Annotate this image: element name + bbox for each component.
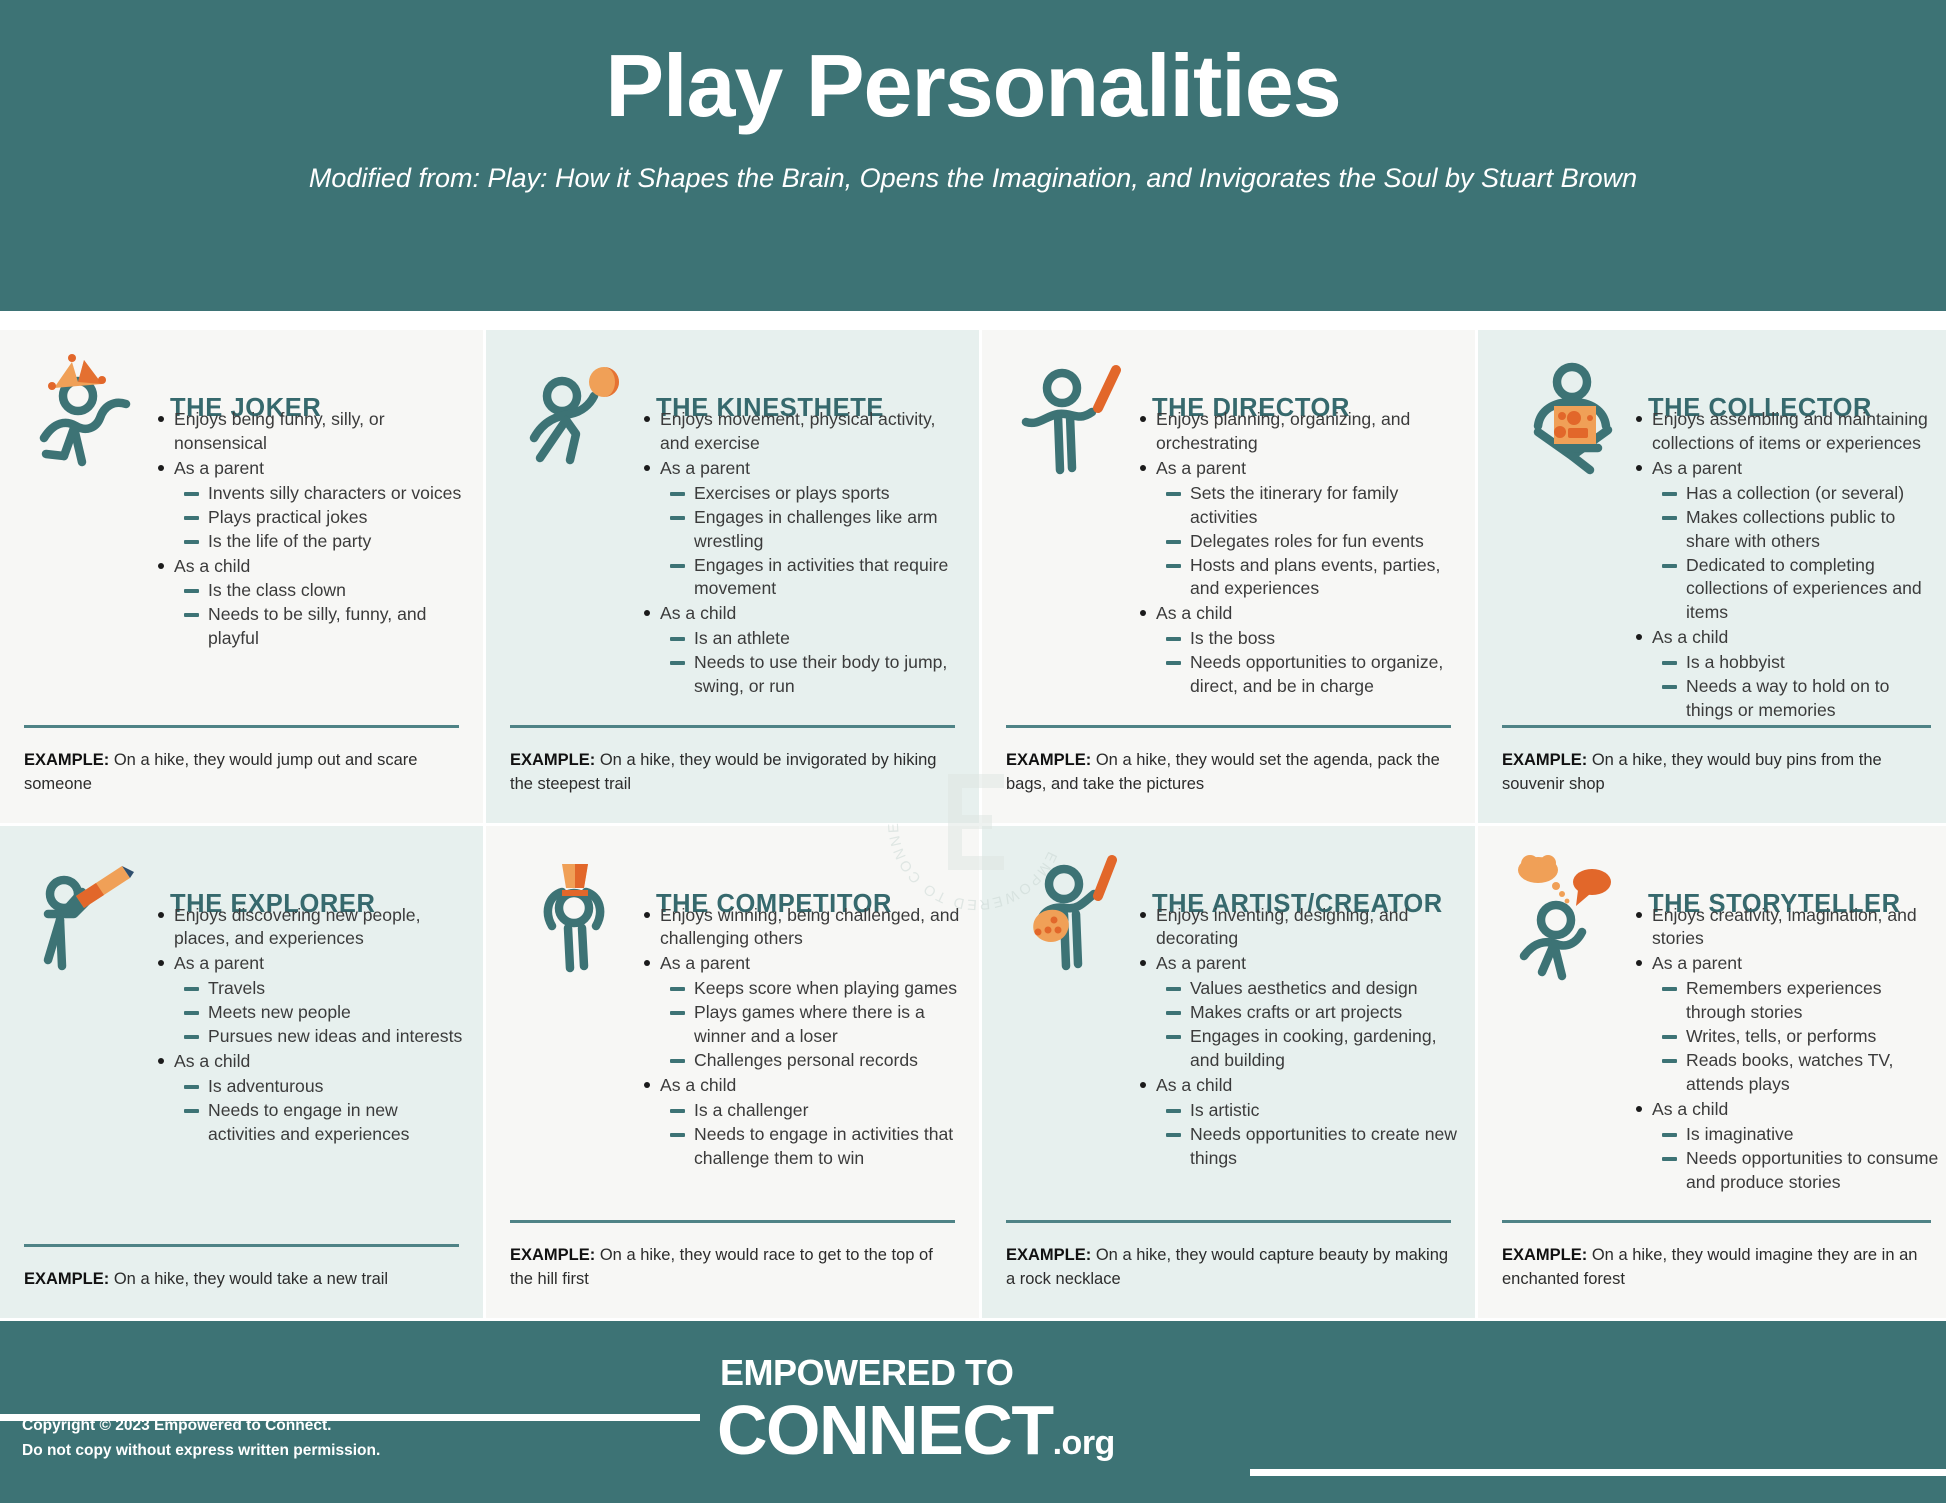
example-label: EXAMPLE:: [1502, 1246, 1587, 1264]
dash-marker-icon: [1166, 540, 1181, 544]
sub-bullet-text: Needs opportunities to create new things: [1190, 1124, 1457, 1168]
sub-bullet-item: Needs opportunities to consume and produ…: [1652, 1147, 1939, 1195]
card-bullet-list: Enjoys winning, being challenged, and ch…: [640, 904, 963, 1172]
sub-bullet-text: Needs a way to hold on to things or memo…: [1686, 676, 1889, 720]
sub-bullet-item: Is a hobbyist: [1652, 651, 1939, 675]
sub-bullet-text: Pursues new ideas and interests: [208, 1026, 462, 1046]
bullet-dot-icon: [644, 960, 650, 966]
bullet-dot-icon: [1636, 465, 1642, 471]
sub-bullet-text: Values aesthetics and design: [1190, 978, 1418, 998]
personality-card-the-director: THE DIRECTOREnjoys planning, organizing,…: [982, 330, 1475, 823]
sub-bullet-text: Is the boss: [1190, 628, 1275, 648]
bullet-text: As a child: [1652, 1099, 1728, 1119]
footer-rule-right: [1250, 1469, 1946, 1476]
example-divider: [510, 725, 955, 728]
sub-bullet-list: Keeps score when playing gamesPlays game…: [660, 977, 963, 1073]
bullet-dot-icon: [1140, 1082, 1146, 1088]
dash-marker-icon: [1662, 516, 1677, 520]
card-example: EXAMPLE: On a hike, they would race to g…: [510, 1220, 955, 1292]
sub-bullet-item: Has a collection (or several): [1652, 482, 1939, 506]
bullet-dot-icon: [1140, 610, 1146, 616]
page-footer: Copyright © 2023 Empowered to Connect. D…: [0, 1321, 1946, 1503]
sub-bullet-item: Values aesthetics and design: [1156, 977, 1459, 1001]
bullet-dot-icon: [158, 416, 164, 422]
example-divider: [24, 1244, 459, 1247]
sub-bullet-item: Is the boss: [1156, 627, 1459, 651]
example-text: EXAMPLE: On a hike, they would buy pins …: [1502, 749, 1931, 797]
sub-bullet-text: Writes, tells, or performs: [1686, 1026, 1876, 1046]
sub-bullet-item: Keeps score when playing games: [660, 977, 963, 1001]
example-text: EXAMPLE: On a hike, they would take a ne…: [24, 1268, 459, 1292]
example-text: EXAMPLE: On a hike, they would race to g…: [510, 1244, 955, 1292]
dash-marker-icon: [670, 516, 685, 520]
card-example: EXAMPLE: On a hike, they would capture b…: [1006, 1220, 1451, 1292]
dash-marker-icon: [184, 1035, 199, 1039]
dash-marker-icon: [1166, 987, 1181, 991]
example-divider: [1006, 1220, 1451, 1223]
bullet-item: As a parentSets the itinerary for family…: [1136, 457, 1459, 602]
dash-marker-icon: [1166, 661, 1181, 665]
sub-bullet-text: Engages in cooking, gardening, and build…: [1190, 1026, 1437, 1070]
sub-bullet-item: Challenges personal records: [660, 1049, 963, 1073]
sub-bullet-text: Travels: [208, 978, 265, 998]
page-subtitle: Modified from: Play: How it Shapes the B…: [309, 159, 1637, 198]
personality-card-the-joker: THE JOKEREnjoys being funny, silly, or n…: [0, 330, 483, 823]
sub-bullet-list: Values aesthetics and designMakes crafts…: [1156, 977, 1459, 1073]
bullet-dot-icon: [644, 610, 650, 616]
bullet-text: As a child: [1156, 603, 1232, 623]
dash-marker-icon: [1662, 1157, 1677, 1161]
bullet-item: Enjoys winning, being challenged, and ch…: [640, 904, 963, 952]
bullet-text: Enjoys planning, organizing, and orchest…: [1156, 409, 1410, 453]
empowered-to-connect-logo: EMPOWERED TO CONNECT.org: [717, 1355, 1257, 1466]
joker-figure-icon: [38, 352, 158, 484]
director-figure-icon: [1020, 352, 1140, 484]
sub-bullet-item: Is the life of the party: [174, 530, 467, 554]
sub-bullet-item: Plays games where there is a winner and …: [660, 1001, 963, 1049]
sub-bullet-text: Sets the itinerary for family activities: [1190, 483, 1398, 527]
dash-marker-icon: [184, 1109, 199, 1113]
dash-marker-icon: [670, 1133, 685, 1137]
dash-marker-icon: [670, 637, 685, 641]
example-divider: [24, 725, 459, 728]
bullet-text: Enjoys movement, physical activity, and …: [660, 409, 935, 453]
example-label: EXAMPLE:: [510, 1246, 595, 1264]
dash-marker-icon: [670, 987, 685, 991]
bullet-item: As a childIs artisticNeeds opportunities…: [1136, 1074, 1459, 1171]
bullet-dot-icon: [1636, 912, 1642, 918]
sub-bullet-text: Keeps score when playing games: [694, 978, 957, 998]
example-divider: [1502, 1220, 1931, 1223]
sub-bullet-item: Engages in cooking, gardening, and build…: [1156, 1025, 1459, 1073]
sub-bullet-list: Remembers experiences through storiesWri…: [1652, 977, 1939, 1097]
bullet-item: As a parentHas a collection (or several)…: [1632, 457, 1939, 625]
example-divider: [1006, 725, 1451, 728]
sub-bullet-item: Dedicated to completing collections of e…: [1652, 554, 1939, 626]
card-example: EXAMPLE: On a hike, they would set the a…: [1006, 725, 1451, 797]
bullet-item: As a childIs the bossNeeds opportunities…: [1136, 602, 1459, 699]
sub-bullet-item: Is artistic: [1156, 1099, 1459, 1123]
bullet-item: As a parentTravelsMeets new peoplePursue…: [154, 952, 467, 1049]
bullet-dot-icon: [158, 960, 164, 966]
dash-marker-icon: [1662, 1059, 1677, 1063]
card-bullet-list: Enjoys creativity, imagination, and stor…: [1632, 904, 1939, 1196]
dash-marker-icon: [184, 492, 199, 496]
bullet-dot-icon: [644, 416, 650, 422]
dash-marker-icon: [1662, 1133, 1677, 1137]
copyright-line-1: Copyright © 2023 Empowered to Connect.: [22, 1414, 380, 1439]
example-label: EXAMPLE:: [1006, 751, 1091, 769]
sub-bullet-item: Is a challenger: [660, 1099, 963, 1123]
dash-marker-icon: [184, 613, 199, 617]
sub-bullet-text: Needs opportunities to consume and produ…: [1686, 1148, 1938, 1192]
bullet-text: Enjoys inventing, designing, and decorat…: [1156, 905, 1408, 949]
dash-marker-icon: [184, 1011, 199, 1015]
sub-bullet-text: Needs to engage in new activities and ex…: [208, 1100, 409, 1144]
bullet-item: As a parentRemembers experiences through…: [1632, 952, 1939, 1097]
bullet-dot-icon: [1636, 960, 1642, 966]
bullet-text: Enjoys assembling and maintaining collec…: [1652, 409, 1928, 453]
bullet-item: Enjoys creativity, imagination, and stor…: [1632, 904, 1939, 952]
example-text: EXAMPLE: On a hike, they would capture b…: [1006, 1244, 1451, 1292]
bullet-dot-icon: [1636, 634, 1642, 640]
sub-bullet-item: Needs opportunities to organize, direct,…: [1156, 651, 1459, 699]
dash-marker-icon: [1166, 1035, 1181, 1039]
bullet-item: As a childIs adventurousNeeds to engage …: [154, 1050, 467, 1147]
sub-bullet-item: Remembers experiences through stories: [1652, 977, 1939, 1025]
dash-marker-icon: [1166, 637, 1181, 641]
bullet-dot-icon: [1140, 465, 1146, 471]
sub-bullet-text: Needs opportunities to organize, direct,…: [1190, 652, 1443, 696]
card-bullet-list: Enjoys discovering new people, places, a…: [154, 904, 467, 1148]
example-label: EXAMPLE:: [1502, 751, 1587, 769]
bullet-text: As a parent: [660, 953, 750, 973]
sub-bullet-list: Is an athleteNeeds to use their body to …: [660, 627, 963, 699]
bullet-dot-icon: [644, 912, 650, 918]
bullet-text: As a child: [1156, 1075, 1232, 1095]
sub-bullet-list: Is imaginativeNeeds opportunities to con…: [1652, 1123, 1939, 1195]
copyright-line-2: Do not copy without express written perm…: [22, 1439, 380, 1464]
sub-bullet-list: Exercises or plays sportsEngages in chal…: [660, 482, 963, 602]
sub-bullet-text: Is a challenger: [694, 1100, 808, 1120]
page-header: Play Personalities Modified from: Play: …: [0, 0, 1946, 311]
dash-marker-icon: [670, 1109, 685, 1113]
sub-bullet-item: Needs opportunities to create new things: [1156, 1123, 1459, 1171]
dash-marker-icon: [1166, 1011, 1181, 1015]
sub-bullet-text: Plays games where there is a winner and …: [694, 1002, 925, 1046]
dash-marker-icon: [670, 1011, 685, 1015]
bullet-dot-icon: [158, 1058, 164, 1064]
sub-bullet-list: Is the class clownNeeds to be silly, fun…: [174, 579, 467, 651]
page-title: Play Personalities: [605, 38, 1340, 133]
dash-marker-icon: [1662, 1035, 1677, 1039]
example-label: EXAMPLE:: [24, 751, 109, 769]
example-text: EXAMPLE: On a hike, they would imagine t…: [1502, 1244, 1931, 1292]
dash-marker-icon: [670, 492, 685, 496]
sub-bullet-item: Sets the itinerary for family activities: [1156, 482, 1459, 530]
sub-bullet-text: Is adventurous: [208, 1076, 323, 1096]
sub-bullet-text: Invents silly characters or voices: [208, 483, 461, 503]
card-example: EXAMPLE: On a hike, they would jump out …: [24, 725, 459, 797]
sub-bullet-text: Plays practical jokes: [208, 507, 367, 527]
bullet-dot-icon: [1140, 960, 1146, 966]
sub-bullet-text: Hosts and plans events, parties, and exp…: [1190, 555, 1440, 599]
personality-card-the-competitor: THE COMPETITOREnjoys winning, being chal…: [486, 826, 979, 1319]
sub-bullet-list: Is adventurousNeeds to engage in new act…: [174, 1075, 467, 1147]
bullet-item: Enjoys being funny, silly, or nonsensica…: [154, 408, 467, 456]
dash-marker-icon: [670, 1059, 685, 1063]
dash-marker-icon: [184, 987, 199, 991]
dash-marker-icon: [1166, 1133, 1181, 1137]
sub-bullet-text: Engages in challenges like arm wrestling: [694, 507, 938, 551]
sub-bullet-text: Is a hobbyist: [1686, 652, 1785, 672]
dash-marker-icon: [184, 540, 199, 544]
sub-bullet-text: Challenges personal records: [694, 1050, 918, 1070]
example-text: EXAMPLE: On a hike, they would be invigo…: [510, 749, 955, 797]
logo-top-line: EMPOWERED TO: [720, 1355, 1257, 1391]
bullet-item: As a parentExercises or plays sportsEnga…: [640, 457, 963, 602]
personality-card-the-storyteller: THE STORYTELLEREnjoys creativity, imagin…: [1478, 826, 1946, 1319]
card-bullet-list: Enjoys movement, physical activity, and …: [640, 408, 963, 700]
bullet-text: As a child: [174, 1051, 250, 1071]
sub-bullet-text: Makes crafts or art projects: [1190, 1002, 1402, 1022]
bullet-text: As a parent: [660, 458, 750, 478]
storyteller-figure-icon: [1516, 848, 1636, 980]
sub-bullet-item: Is the class clown: [174, 579, 467, 603]
sub-bullet-text: Remembers experiences through stories: [1686, 978, 1882, 1022]
sub-bullet-item: Engages in challenges like arm wrestling: [660, 506, 963, 554]
sub-bullet-item: Needs to engage in activities that chall…: [660, 1123, 963, 1171]
sub-bullet-list: Has a collection (or several)Makes colle…: [1652, 482, 1939, 626]
bullet-dot-icon: [1140, 912, 1146, 918]
example-divider: [510, 1220, 955, 1223]
dash-marker-icon: [1662, 564, 1677, 568]
dash-marker-icon: [1662, 492, 1677, 496]
dash-marker-icon: [1662, 685, 1677, 689]
card-bullet-list: Enjoys being funny, silly, or nonsensica…: [154, 408, 467, 652]
sub-bullet-item: Meets new people: [174, 1001, 467, 1025]
sub-bullet-text: Makes collections public to share with o…: [1686, 507, 1895, 551]
sub-bullet-list: Sets the itinerary for family activities…: [1156, 482, 1459, 602]
sub-bullet-text: Engages in activities that require movem…: [694, 555, 948, 599]
dash-marker-icon: [1662, 661, 1677, 665]
sub-bullet-text: Needs to be silly, funny, and playful: [208, 604, 426, 648]
bullet-dot-icon: [1636, 416, 1642, 422]
sub-bullet-item: Pursues new ideas and interests: [174, 1025, 467, 1049]
example-text: EXAMPLE: On a hike, they would jump out …: [24, 749, 459, 797]
bullet-text: As a parent: [1156, 953, 1246, 973]
kinesthete-figure-icon: [524, 352, 644, 484]
bullet-text: As a parent: [1652, 953, 1742, 973]
personality-card-the-kinesthete: THE KINESTHETEEnjoys movement, physical …: [486, 330, 979, 823]
explorer-figure-icon: [38, 848, 158, 980]
sub-bullet-item: Engages in activities that require movem…: [660, 554, 963, 602]
sub-bullet-item: Is imaginative: [1652, 1123, 1939, 1147]
bullet-text: Enjoys discovering new people, places, a…: [174, 905, 420, 949]
dash-marker-icon: [1166, 1109, 1181, 1113]
sub-bullet-list: TravelsMeets new peoplePursues new ideas…: [174, 977, 467, 1049]
bullet-item: As a childIs a hobbyistNeeds a way to ho…: [1632, 626, 1939, 723]
example-label: EXAMPLE:: [510, 751, 595, 769]
sub-bullet-list: Is a hobbyistNeeds a way to hold on to t…: [1652, 651, 1939, 723]
sub-bullet-list: Is a challengerNeeds to engage in activi…: [660, 1099, 963, 1171]
sub-bullet-text: Needs to use their body to jump, swing, …: [694, 652, 947, 696]
card-example: EXAMPLE: On a hike, they would be invigo…: [510, 725, 955, 797]
example-divider: [1502, 725, 1931, 728]
dash-marker-icon: [184, 589, 199, 593]
sub-bullet-text: Dedicated to completing collections of e…: [1686, 555, 1922, 623]
competitor-figure-icon: [524, 848, 644, 980]
sub-bullet-text: Meets new people: [208, 1002, 351, 1022]
bullet-item: Enjoys inventing, designing, and decorat…: [1136, 904, 1459, 952]
card-bullet-list: Enjoys assembling and maintaining collec…: [1632, 408, 1939, 724]
bullet-dot-icon: [1636, 1106, 1642, 1112]
dash-marker-icon: [184, 516, 199, 520]
personality-card-the-explorer: THE EXPLOREREnjoys discovering new peopl…: [0, 826, 483, 1319]
infographic-page: Play Personalities Modified from: Play: …: [0, 0, 1946, 1503]
bullet-item: As a childIs an athleteNeeds to use thei…: [640, 602, 963, 699]
example-label: EXAMPLE:: [1006, 1246, 1091, 1264]
sub-bullet-text: Is the class clown: [208, 580, 346, 600]
card-example: EXAMPLE: On a hike, they would take a ne…: [24, 1244, 459, 1292]
sub-bullet-list: Invents silly characters or voicesPlays …: [174, 482, 467, 554]
example-text: EXAMPLE: On a hike, they would set the a…: [1006, 749, 1451, 797]
bullet-item: As a childIs the class clownNeeds to be …: [154, 555, 467, 652]
sub-bullet-item: Needs to use their body to jump, swing, …: [660, 651, 963, 699]
bullet-text: As a parent: [1156, 458, 1246, 478]
bullet-item: Enjoys discovering new people, places, a…: [154, 904, 467, 952]
sub-bullet-item: Makes collections public to share with o…: [1652, 506, 1939, 554]
bullet-item: As a childIs a challengerNeeds to engage…: [640, 1074, 963, 1171]
sub-bullet-item: Needs a way to hold on to things or memo…: [1652, 675, 1939, 723]
card-bullet-list: Enjoys planning, organizing, and orchest…: [1136, 408, 1459, 700]
sub-bullet-item: Reads books, watches TV, attends plays: [1652, 1049, 1939, 1097]
dash-marker-icon: [184, 1085, 199, 1089]
bullet-item: As a parentKeeps score when playing game…: [640, 952, 963, 1073]
card-example: EXAMPLE: On a hike, they would buy pins …: [1502, 725, 1931, 797]
sub-bullet-list: Is the bossNeeds opportunities to organi…: [1156, 627, 1459, 699]
sub-bullet-item: Is an athlete: [660, 627, 963, 651]
bullet-dot-icon: [158, 912, 164, 918]
example-body: On a hike, they would take a new trail: [109, 1270, 388, 1288]
logo-main-line: CONNECT.org: [717, 1395, 1257, 1466]
personality-card-the-artist-creator: THE ARTIST/CREATOREnjoys inventing, desi…: [982, 826, 1475, 1319]
bullet-text: As a parent: [1652, 458, 1742, 478]
example-label: EXAMPLE:: [24, 1270, 109, 1288]
logo-tld: .org: [1053, 1424, 1115, 1462]
sub-bullet-text: Reads books, watches TV, attends plays: [1686, 1050, 1893, 1094]
bullet-text: Enjoys creativity, imagination, and stor…: [1652, 905, 1917, 949]
sub-bullet-item: Is adventurous: [174, 1075, 467, 1099]
sub-bullet-item: Travels: [174, 977, 467, 1001]
sub-bullet-text: Has a collection (or several): [1686, 483, 1904, 503]
play-personality-grid: THE JOKEREnjoys being funny, silly, or n…: [0, 330, 1946, 1318]
dash-marker-icon: [1662, 987, 1677, 991]
bullet-text: Enjoys winning, being challenged, and ch…: [660, 905, 959, 949]
card-bullet-list: Enjoys inventing, designing, and decorat…: [1136, 904, 1459, 1172]
sub-bullet-text: Is the life of the party: [208, 531, 371, 551]
bullet-text: As a child: [174, 556, 250, 576]
sub-bullet-list: Is artisticNeeds opportunities to create…: [1156, 1099, 1459, 1171]
sub-bullet-item: Exercises or plays sports: [660, 482, 963, 506]
bullet-text: Enjoys being funny, silly, or nonsensica…: [174, 409, 385, 453]
bullet-text: As a parent: [174, 953, 264, 973]
bullet-dot-icon: [1140, 416, 1146, 422]
bullet-text: As a child: [660, 603, 736, 623]
bullet-item: Enjoys assembling and maintaining collec…: [1632, 408, 1939, 456]
bullet-item: As a parentValues aesthetics and designM…: [1136, 952, 1459, 1073]
dash-marker-icon: [670, 564, 685, 568]
collector-figure-icon: [1516, 352, 1636, 484]
sub-bullet-item: Delegates roles for fun events: [1156, 530, 1459, 554]
bullet-item: Enjoys planning, organizing, and orchest…: [1136, 408, 1459, 456]
sub-bullet-item: Needs to be silly, funny, and playful: [174, 603, 467, 651]
logo-word: CONNECT: [717, 1391, 1053, 1469]
sub-bullet-item: Makes crafts or art projects: [1156, 1001, 1459, 1025]
sub-bullet-item: Needs to engage in new activities and ex…: [174, 1099, 467, 1147]
bullet-item: Enjoys movement, physical activity, and …: [640, 408, 963, 456]
bullet-text: As a parent: [174, 458, 264, 478]
dash-marker-icon: [670, 661, 685, 665]
personality-card-the-collector: THE COLLECTOREnjoys assembling and maint…: [1478, 330, 1946, 823]
bullet-text: As a child: [660, 1075, 736, 1095]
dash-marker-icon: [1166, 564, 1181, 568]
sub-bullet-text: Delegates roles for fun events: [1190, 531, 1424, 551]
bullet-item: As a parentInvents silly characters or v…: [154, 457, 467, 554]
artist-creator-figure-icon: [1020, 848, 1140, 980]
sub-bullet-text: Is an athlete: [694, 628, 790, 648]
sub-bullet-item: Hosts and plans events, parties, and exp…: [1156, 554, 1459, 602]
bullet-dot-icon: [644, 465, 650, 471]
bullet-text: As a child: [1652, 627, 1728, 647]
bullet-dot-icon: [158, 563, 164, 569]
sub-bullet-text: Is artistic: [1190, 1100, 1259, 1120]
dash-marker-icon: [1166, 492, 1181, 496]
sub-bullet-text: Is imaginative: [1686, 1124, 1794, 1144]
bullet-dot-icon: [158, 465, 164, 471]
bullet-dot-icon: [644, 1082, 650, 1088]
sub-bullet-item: Invents silly characters or voices: [174, 482, 467, 506]
bullet-item: As a childIs imaginativeNeeds opportunit…: [1632, 1098, 1939, 1195]
sub-bullet-item: Writes, tells, or performs: [1652, 1025, 1939, 1049]
sub-bullet-text: Exercises or plays sports: [694, 483, 890, 503]
card-example: EXAMPLE: On a hike, they would imagine t…: [1502, 1220, 1931, 1292]
sub-bullet-text: Needs to engage in activities that chall…: [694, 1124, 953, 1168]
copyright-notice: Copyright © 2023 Empowered to Connect. D…: [22, 1414, 380, 1464]
sub-bullet-item: Plays practical jokes: [174, 506, 467, 530]
